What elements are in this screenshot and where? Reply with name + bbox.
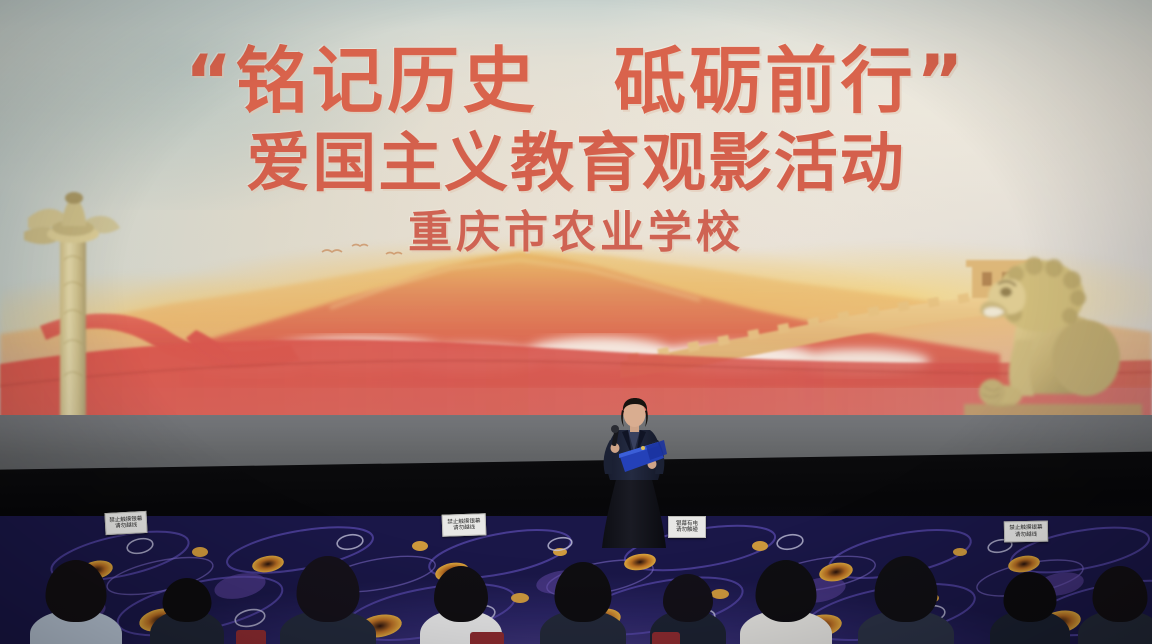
audience-head xyxy=(163,578,212,622)
audience-member xyxy=(420,548,502,644)
audience-member xyxy=(280,538,376,644)
placard-line-2: 请勿越线 xyxy=(453,525,475,532)
stage-placard: 禁止触摸银幕请勿越线 xyxy=(442,513,487,537)
audience-head xyxy=(756,560,817,622)
speaker-host xyxy=(588,396,680,556)
audience-head xyxy=(663,574,713,622)
placard-line-2: 请勿越线 xyxy=(1015,532,1037,538)
audience-head xyxy=(297,556,360,622)
stage-placard: 禁止触摸银幕请勿越线 xyxy=(1004,521,1048,543)
audience-head xyxy=(46,560,107,622)
audience-head xyxy=(875,556,938,622)
audience-head xyxy=(555,562,612,622)
audience-head xyxy=(1004,572,1057,622)
screenshot-root: “铭记历史 砥砺前行” 爱国主义教育观影活动 重庆市农业学校 xyxy=(0,0,1152,644)
screen-title-line-3: 重庆市农业学校 xyxy=(0,196,1152,260)
audience-member xyxy=(990,554,1070,644)
audience-member xyxy=(650,556,726,644)
seat-back xyxy=(470,632,504,644)
seat-back xyxy=(652,632,680,644)
projected-backdrop: “铭记历史 砥砺前行” 爱国主义教育观影活动 重庆市农业学校 xyxy=(0,0,1152,418)
audience-head xyxy=(434,566,488,622)
screen-title-block: “铭记历史 砥砺前行” 爱国主义教育观影活动 重庆市农业学校 xyxy=(0,0,1152,280)
audience-head xyxy=(1093,566,1148,622)
stage-placard: 禁止触摸银幕请勿越线 xyxy=(104,511,147,535)
audience-member xyxy=(740,542,832,644)
speaker-skirt xyxy=(602,472,666,548)
lapel-badge xyxy=(641,446,645,450)
seat-back xyxy=(236,630,266,644)
audience-foreground xyxy=(0,548,1152,644)
placard-line-2: 请勿越线 xyxy=(115,523,137,530)
audience-member xyxy=(858,538,954,644)
audience-member xyxy=(150,560,224,644)
audience-member xyxy=(540,544,626,644)
audience-member xyxy=(1078,548,1152,644)
screen-title-line-2: 爱国主义教育观影活动 xyxy=(0,112,1152,204)
audience-member xyxy=(30,542,122,644)
